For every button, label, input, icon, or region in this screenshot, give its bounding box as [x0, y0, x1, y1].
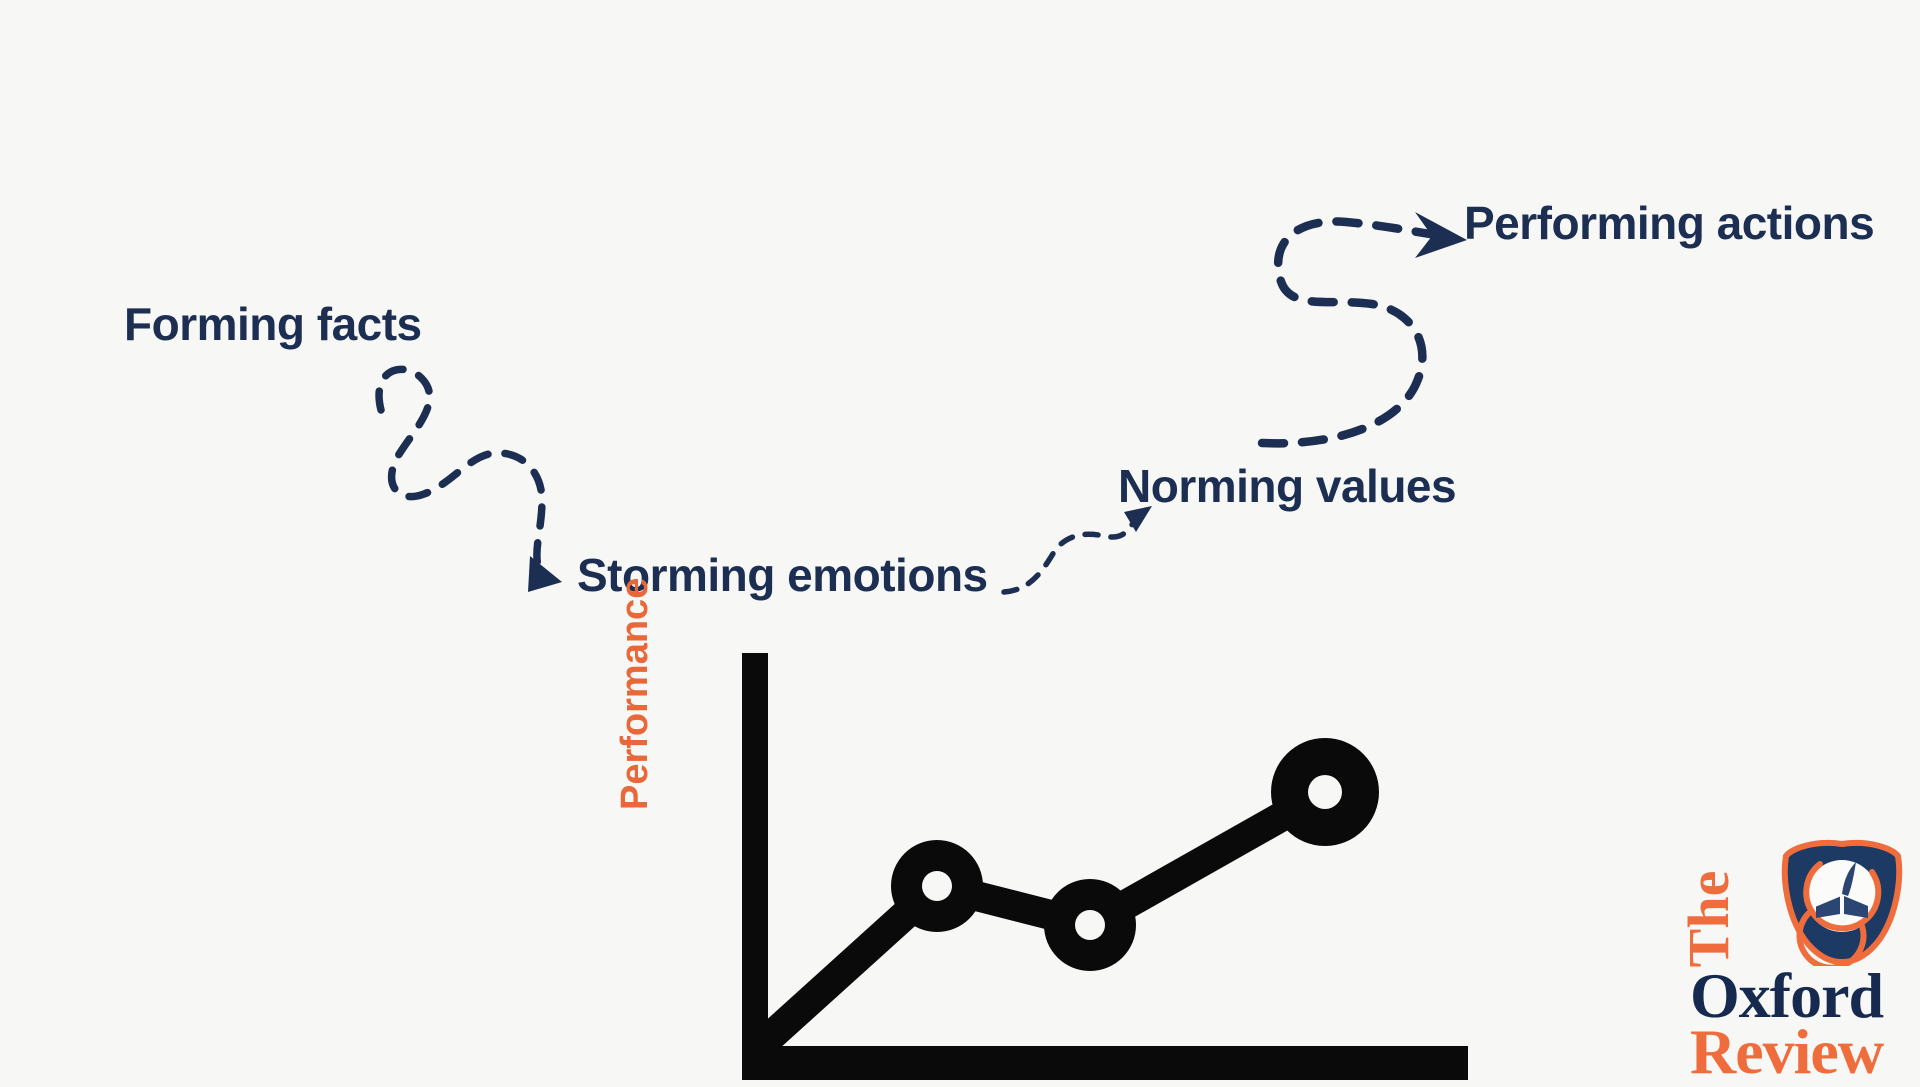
chart-y-axis [742, 653, 768, 1080]
infographic-canvas: Forming facts Storming emotions Norming … [0, 0, 1920, 1080]
logo-text-review: Review [1690, 1020, 1883, 1084]
shield-book-quill-icon [1776, 834, 1908, 966]
logo-the-oxford-review[interactable]: The Oxford Review [1668, 826, 1920, 1080]
chart-markers [891, 738, 1379, 971]
chart-marker-performing [1271, 738, 1379, 846]
chart-x-axis [742, 1046, 1468, 1080]
chart-y-axis-label: Performance [614, 510, 657, 810]
chart-marker-storming [891, 840, 983, 932]
chart-line-series [760, 792, 1325, 1046]
performance-chart [0, 0, 1920, 1080]
chart-marker-norming [1044, 879, 1136, 971]
